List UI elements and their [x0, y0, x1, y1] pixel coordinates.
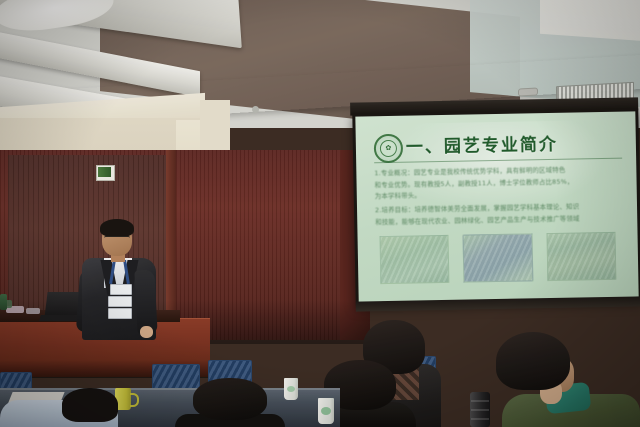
seal-inner-glyph: ✿ [380, 140, 397, 157]
presenter-speaker [78, 222, 170, 340]
desk-papers-secondary [26, 308, 40, 314]
slide-title: 一、园艺专业简介 [406, 129, 621, 159]
slide-body-text: 1.专业概况：园艺专业是我校传统优势学科，具有鲜明的区域特色 和专业优势。现有教… [374, 166, 623, 226]
lecture-room-photograph: ✿ 一、园艺专业简介 1.专业概况：园艺专业是我校传统优势学科，具有鲜明的区域特… [0, 0, 640, 427]
audience-hair [193, 378, 267, 420]
audience-member-right [488, 332, 640, 427]
slide-body-line: 为本学科带头。 [375, 189, 623, 200]
slide-body-line: 2.培养目标：培养德智体美劳全面发展，掌握园艺学科基本理论、知识 [375, 203, 623, 214]
tumbler-ring [471, 400, 489, 402]
water-bottle [0, 294, 7, 310]
slide-thumbnail-orchard [380, 235, 450, 284]
cup-logo-icon [321, 407, 331, 415]
tumbler-ring [471, 418, 489, 420]
audience-member-front-left [0, 400, 118, 427]
slide-body-line: 和技能，能够在现代农业、园林绿化、园艺产品生产与技术推广等领域 [375, 215, 623, 226]
slide-photo-row [380, 232, 617, 282]
slide-thumbnail-greenhouse [463, 233, 533, 282]
audience-hair [62, 388, 118, 422]
thumbnail-texture [464, 234, 532, 281]
ceiling-spotlight [252, 106, 259, 113]
powerpoint-slide: ✿ 一、园艺专业简介 1.专业概况：园艺专业是我校传统优势学科，具有鲜明的区域特… [355, 111, 638, 302]
presenter-right-hand [140, 326, 153, 338]
eyeglasses-icon [104, 236, 130, 242]
presenter-hair [100, 219, 134, 237]
audience-member-front-center [175, 378, 285, 427]
projection-screen: ✿ 一、园艺专业简介 1.专业概况：园艺专业是我校传统优势学科，具有鲜明的区域特… [350, 97, 640, 314]
presenter-name-badge [108, 296, 132, 307]
cup-logo-icon [287, 386, 295, 392]
tumbler-ring [471, 409, 489, 411]
slide-body-line: 和专业优势。现有教授5人，副教授11人，博士学位教师占比85%， [375, 177, 623, 188]
presenter-name-badge [110, 284, 132, 295]
exit-sign-icon [98, 167, 111, 177]
presenter-name-badge [108, 308, 132, 319]
presenter-right-arm [134, 270, 157, 335]
thumbnail-texture [381, 236, 449, 283]
slide-thumbnail-field-trial [546, 232, 616, 281]
ceiling-vent-slot-icon [518, 87, 538, 96]
thumbnail-texture [547, 233, 615, 280]
audience-hair [496, 332, 570, 390]
